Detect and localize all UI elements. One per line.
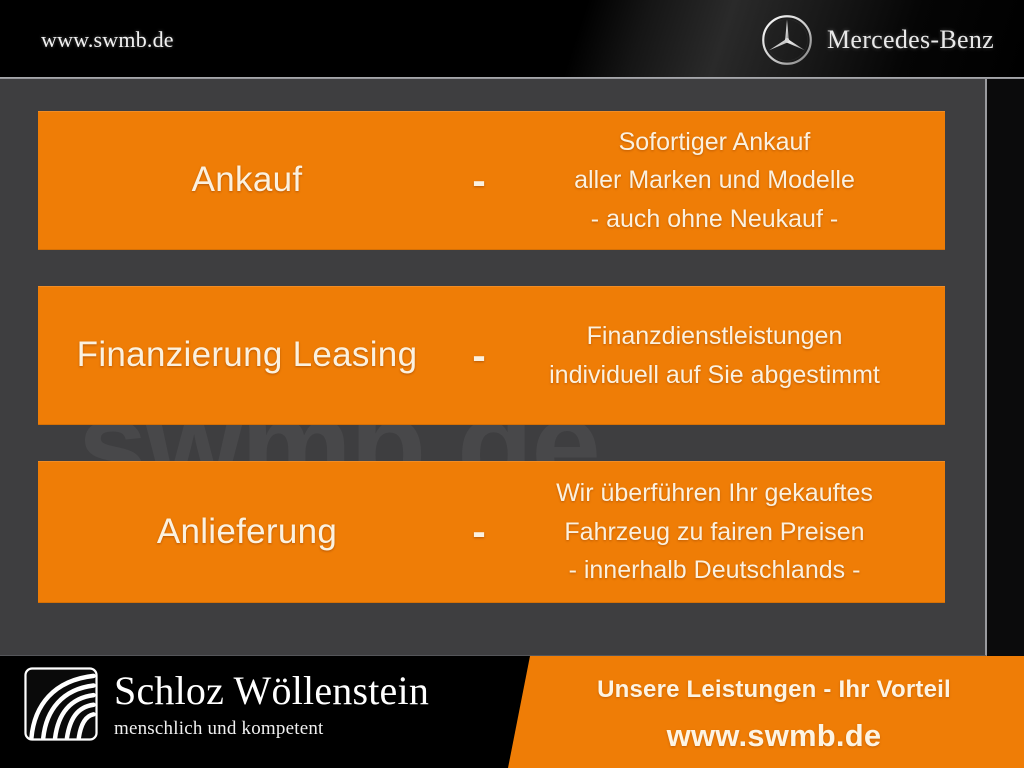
service-description-line: aller Marken und Modelle [502,161,927,200]
service-title: Finanzierung Leasing [38,333,456,378]
service-title: Ankauf [38,158,456,203]
promo-url[interactable]: www.swmb.de [540,718,1008,754]
service-title-line: Leasing [293,335,418,374]
mercedes-benz-wordmark: Mercedes-Benz [827,25,994,55]
service-description-line: Wir überführen Ihr gekauftes [502,474,927,513]
service-description: Wir überführen Ihr gekauftes Fahrzeug zu… [502,474,945,590]
footer-bar: Schloz Wöllenstein menschlich und kompet… [0,656,1024,768]
service-row-anlieferung[interactable]: Anlieferung - Wir überführen Ihr gekauft… [38,461,945,603]
schloz-woellenstein-text: Schloz Wöllenstein menschlich und kompet… [114,667,429,740]
company-name: Schloz Wöllenstein [114,671,429,711]
header-bar: www.swmb.de [0,0,1024,79]
service-description: Sofortiger Ankauf aller Marken und Model… [502,123,945,239]
footer-promo: Unsere Leistungen - Ihr Vorteil www.swmb… [540,676,1008,754]
service-description-line: Sofortiger Ankauf [502,123,927,162]
service-separator: - [456,512,502,552]
panel-right-filler [987,79,1024,656]
services-panel: swmb.de Ankauf - Sofortiger Ankauf aller… [0,79,987,656]
service-title: Anlieferung [38,510,456,555]
schloz-woellenstein-road-logo-icon [24,667,98,741]
schloz-woellenstein-logo[interactable]: Schloz Wöllenstein menschlich und kompet… [24,667,429,741]
mercedes-star-icon [760,13,814,67]
service-description: Finanzdienstleistungen individuell auf S… [502,317,945,394]
service-separator: - [456,161,502,201]
service-separator: - [456,336,502,376]
slide-root: www.swmb.de [0,0,1024,768]
company-claim: menschlich und kompetent [114,718,429,740]
service-description-line: individuell auf Sie abgestimmt [502,356,927,395]
service-description-line: Finanzdienstleistungen [502,317,927,356]
service-title-line: Finanzierung [77,335,283,374]
service-description-line: - auch ohne Neukauf - [502,200,927,239]
service-description-line: - innerhalb Deutschlands - [502,551,927,590]
service-row-finanzierung-leasing[interactable]: Finanzierung Leasing - Finanzdienstleist… [38,286,945,425]
mercedes-benz-logo: Mercedes-Benz [760,13,994,67]
header-website-url: www.swmb.de [41,27,174,53]
service-description-line: Fahrzeug zu fairen Preisen [502,513,927,552]
service-row-ankauf[interactable]: Ankauf - Sofortiger Ankauf aller Marken … [38,111,945,250]
promo-headline: Unsere Leistungen - Ihr Vorteil [540,676,1008,704]
